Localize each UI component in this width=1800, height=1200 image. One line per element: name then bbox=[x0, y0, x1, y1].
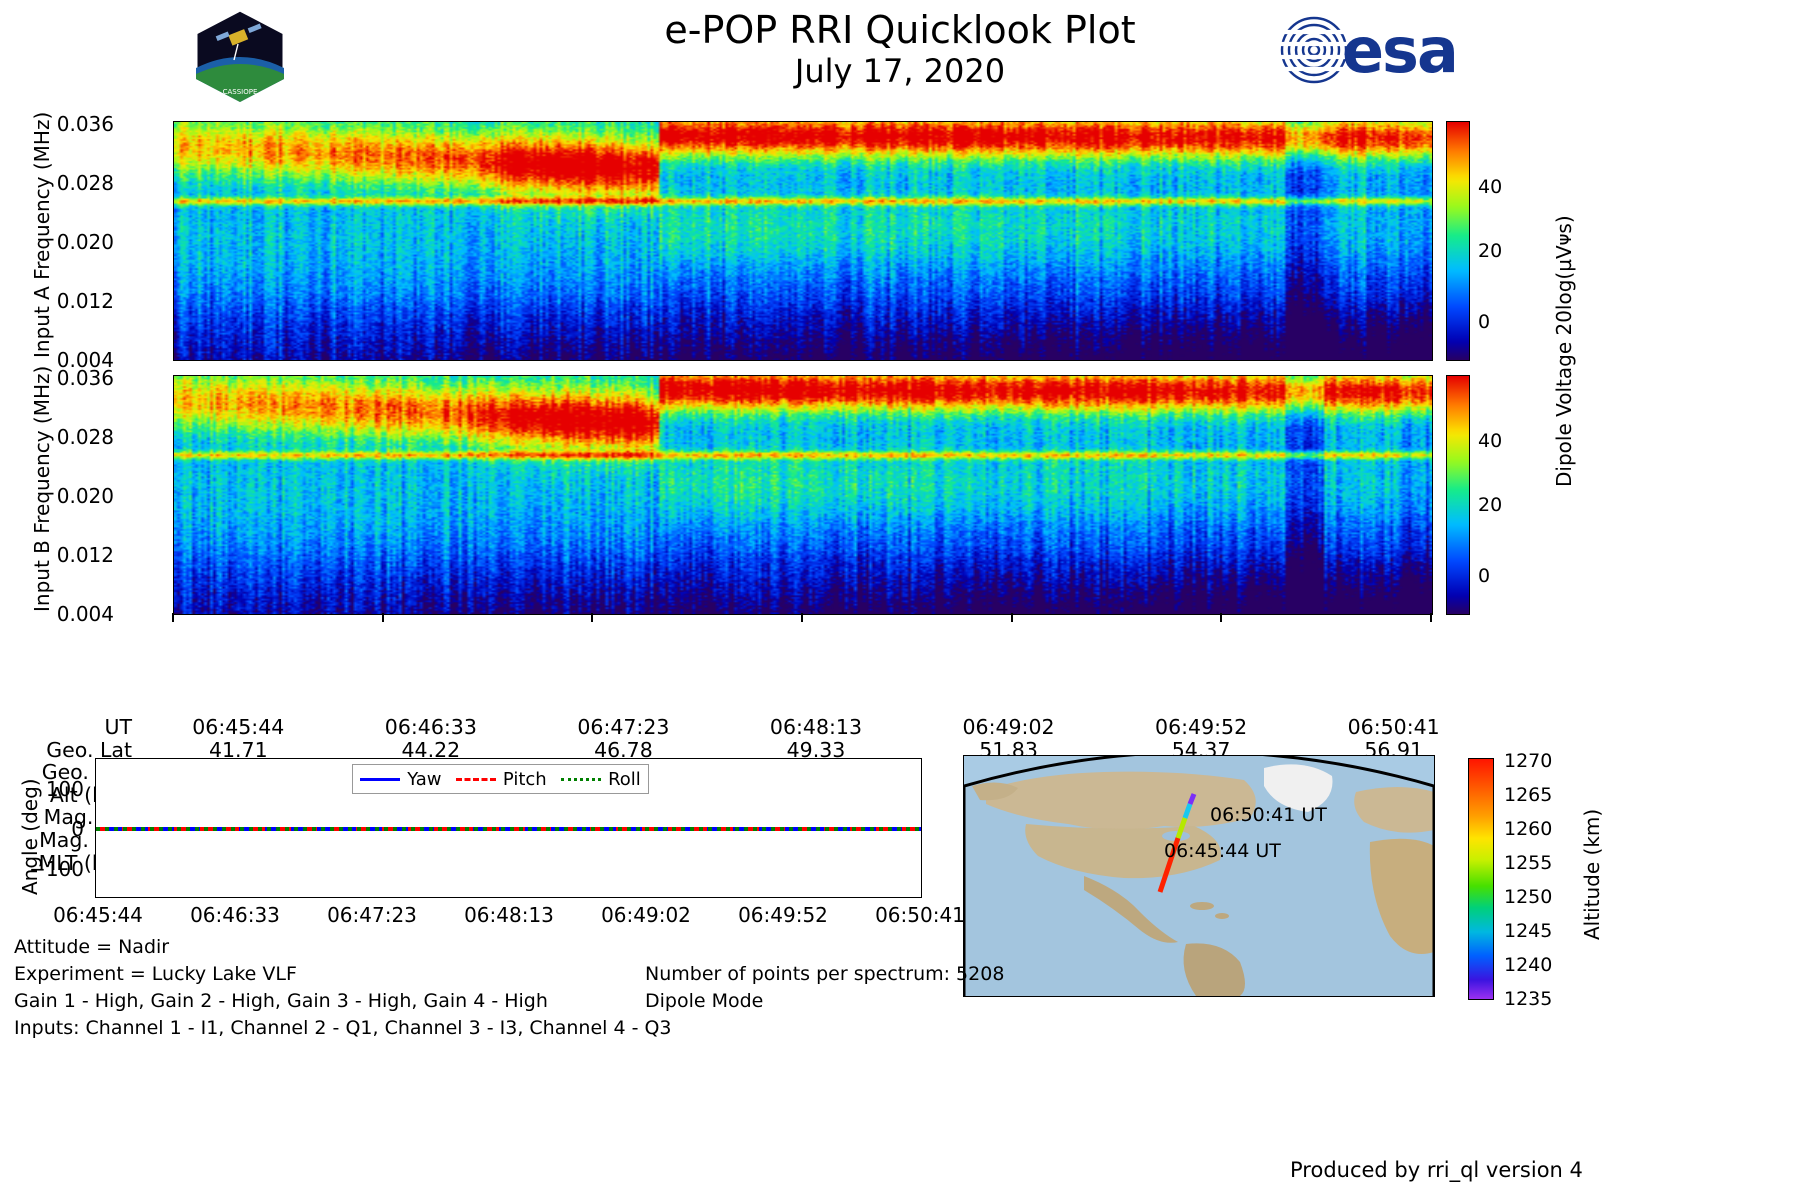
attitude-xtick-2: 06:47:23 bbox=[317, 903, 427, 927]
panel-a-ytick-3: 0.012 bbox=[28, 289, 114, 313]
legend-item-yaw: Yaw bbox=[360, 769, 441, 790]
panel-b-ytick-4: 0.004 bbox=[28, 602, 114, 626]
roll-line-icon bbox=[561, 778, 601, 781]
roll-trace bbox=[96, 827, 921, 831]
footer-experiment: Experiment = Lucky Lake VLF bbox=[14, 963, 297, 985]
panel-b-ytick-1: 0.028 bbox=[28, 425, 114, 449]
panel-b-ytick-2: 0.020 bbox=[28, 484, 114, 508]
panel-a-ytick-2: 0.020 bbox=[28, 230, 114, 254]
cell-ut-0: 06:45:44 bbox=[142, 716, 335, 739]
footer-npoints: Number of points per spectrum: 5208 bbox=[645, 963, 1004, 985]
map-start-label: 06:45:44 UT bbox=[1164, 840, 1281, 862]
dipole-voltage-colorbar-label: Dipole Voltage 20log(µVᴪs) bbox=[1552, 215, 1576, 487]
xtick-mark bbox=[1220, 613, 1222, 622]
attitude-xtick-1: 06:46:33 bbox=[180, 903, 290, 927]
cbar-b-tick-1: 20 bbox=[1478, 494, 1502, 516]
legend-label-roll: Roll bbox=[608, 769, 641, 790]
panel-a-ytick-1: 0.028 bbox=[28, 171, 114, 195]
panel-b-ytick-3: 0.012 bbox=[28, 543, 114, 567]
row-label-ut: UT bbox=[0, 716, 142, 739]
attitude-legend: Yaw Pitch Roll bbox=[352, 764, 649, 794]
attitude-xtick-3: 06:48:13 bbox=[454, 903, 564, 927]
spectrogram-panel-input-a[interactable] bbox=[173, 121, 1433, 361]
attitude-ytick-2: −100 bbox=[0, 857, 84, 881]
alt-tick-3: 1255 bbox=[1504, 852, 1552, 874]
attitude-xtick-0: 06:45:44 bbox=[43, 903, 153, 927]
cbar-b-tick-2: 0 bbox=[1478, 565, 1490, 587]
footer-attitude: Attitude = Nadir bbox=[14, 936, 169, 958]
panel-a-ytick-0: 0.036 bbox=[28, 112, 114, 136]
altitude-colorbar-label: Altitude (km) bbox=[1580, 809, 1604, 940]
alt-tick-4: 1250 bbox=[1504, 886, 1552, 908]
table-row-ut: UT 06:45:44 06:46:33 06:47:23 06:48:13 0… bbox=[0, 716, 1490, 739]
xtick-mark bbox=[382, 613, 384, 622]
footer-inputs: Inputs: Channel 1 - I1, Channel 2 - Q1, … bbox=[14, 1017, 672, 1039]
attitude-xtick-5: 06:49:52 bbox=[728, 903, 838, 927]
cell-ut-2: 06:47:23 bbox=[527, 716, 720, 739]
cell-ut-6: 06:50:41 bbox=[1297, 716, 1490, 739]
xtick-mark bbox=[172, 613, 174, 622]
colorbar-input-b[interactable] bbox=[1446, 375, 1470, 615]
map-end-label: 06:50:41 UT bbox=[1210, 804, 1327, 826]
cbar-a-tick-1: 20 bbox=[1478, 240, 1502, 262]
attitude-xtick-6: 06:50:41 bbox=[865, 903, 975, 927]
cell-ut-4: 06:49:02 bbox=[912, 716, 1105, 739]
alt-tick-5: 1245 bbox=[1504, 920, 1552, 942]
panel-b-ytick-0: 0.036 bbox=[28, 366, 114, 390]
xtick-mark bbox=[1430, 613, 1432, 622]
cell-ut-3: 06:48:13 bbox=[720, 716, 913, 739]
legend-label-yaw: Yaw bbox=[407, 769, 441, 790]
svg-text:esa: esa bbox=[1342, 14, 1457, 87]
footer-gains: Gain 1 - High, Gain 2 - High, Gain 3 - H… bbox=[14, 990, 548, 1012]
legend-item-pitch: Pitch bbox=[456, 769, 547, 790]
footer-produced-by: Produced by rri_ql version 4 bbox=[1290, 1158, 1583, 1182]
alt-tick-7: 1235 bbox=[1504, 988, 1552, 1010]
legend-item-roll: Roll bbox=[561, 769, 641, 790]
cell-ut-1: 06:46:33 bbox=[335, 716, 528, 739]
xtick-mark bbox=[801, 613, 803, 622]
legend-label-pitch: Pitch bbox=[503, 769, 547, 790]
xtick-mark bbox=[1011, 613, 1013, 622]
cell-ut-5: 06:49:52 bbox=[1105, 716, 1298, 739]
cbar-b-tick-0: 40 bbox=[1478, 430, 1502, 452]
alt-tick-2: 1260 bbox=[1504, 818, 1552, 840]
pitch-line-icon bbox=[456, 778, 496, 781]
yaw-line-icon bbox=[360, 778, 400, 781]
spectrogram-panel-input-b[interactable] bbox=[173, 375, 1433, 615]
xtick-mark bbox=[591, 613, 593, 622]
cbar-a-tick-2: 0 bbox=[1478, 311, 1490, 333]
attitude-xtick-4: 06:49:02 bbox=[591, 903, 701, 927]
cassiope-logo-icon: CASSIOPE bbox=[190, 8, 290, 104]
alt-tick-0: 1270 bbox=[1504, 750, 1552, 772]
svg-text:CASSIOPE: CASSIOPE bbox=[223, 88, 258, 96]
attitude-ytick-0: 100 bbox=[0, 777, 84, 801]
esa-logo-icon: esa bbox=[1280, 10, 1490, 90]
altitude-colorbar[interactable] bbox=[1468, 758, 1494, 1000]
attitude-ytick-1: 0 bbox=[0, 817, 84, 841]
world-map-icon bbox=[964, 756, 1434, 996]
footer-mode: Dipole Mode bbox=[645, 990, 763, 1012]
colorbar-input-a[interactable] bbox=[1446, 121, 1470, 361]
alt-tick-1: 1265 bbox=[1504, 784, 1552, 806]
orbit-track-map[interactable]: 06:50:41 UT 06:45:44 UT bbox=[963, 755, 1435, 997]
alt-tick-6: 1240 bbox=[1504, 954, 1552, 976]
cbar-a-tick-0: 40 bbox=[1478, 176, 1502, 198]
